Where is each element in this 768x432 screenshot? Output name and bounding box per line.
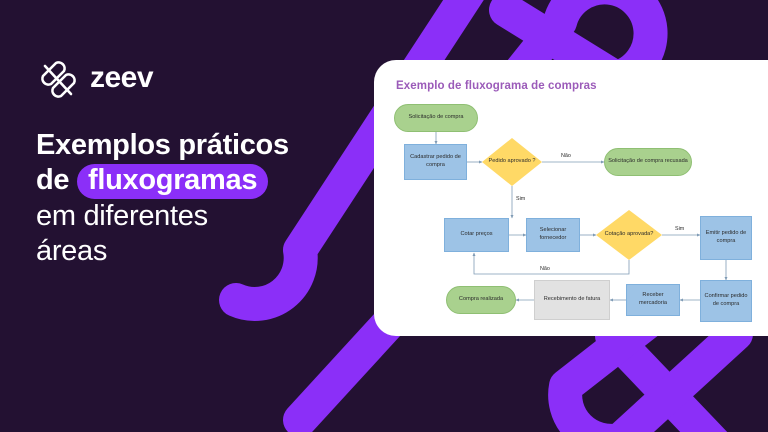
flow-node-compra-realizada: Compra realizada (446, 286, 516, 314)
flowchart-card: Exemplo de fluxograma de compras (374, 60, 768, 336)
flow-node-selecionar-fornecedor: Selecionar fornecedor (526, 218, 580, 252)
flow-node-emitir-pedido: Emitir pedido de compra (700, 216, 752, 260)
flow-node-cotacao-aprovada: Cotação aprovada? (596, 210, 662, 260)
edge-label-nao-bottom: Não (539, 266, 551, 272)
headline-line-2: de fluxogramas (36, 163, 366, 199)
edge-label-sim-right: Sim (674, 226, 685, 232)
flow-node-confirmar-pedido: Confirmar pedido de compra (700, 280, 752, 322)
edge-label-sim-down: Sim (515, 196, 526, 202)
slide-canvas: zeev Exemplos práticos de fluxogramas em… (0, 0, 768, 432)
left-content-column: zeev Exemplos práticos de fluxogramas em… (36, 56, 366, 269)
flow-node-cotar-precos: Cotar preços (444, 218, 509, 252)
headline-line-3: em diferentes (36, 199, 366, 234)
flow-node-receber-mercadoria: Receber mercadoria (626, 284, 680, 316)
flow-node-pedido-aprovado: Pedido aprovado ? (482, 138, 542, 186)
brand-logo: zeev (36, 56, 366, 102)
page-title: Exemplos práticos de fluxogramas em dife… (36, 128, 366, 269)
zeev-logo-mark (36, 58, 80, 100)
flowchart-diagram: Solicitação de compra Cadastrar pedido d… (374, 100, 768, 336)
flowchart-title: Exemplo de fluxograma de compras (396, 80, 597, 92)
headline-line-4: áreas (36, 234, 366, 269)
brand-name: zeev (90, 63, 153, 95)
edge-label-nao-top: Não (560, 153, 572, 159)
flow-node-solicitacao-compra: Solicitação de compra (394, 104, 478, 132)
flow-node-compra-recusada: Solicitação de compra recusada (604, 148, 692, 176)
headline-line-1: Exemplos práticos (36, 128, 366, 163)
flow-node-recebimento-fatura: Recebimento de fatura (534, 280, 610, 320)
headline-highlight-fluxogramas: fluxogramas (77, 164, 268, 199)
flow-node-cadastrar-pedido: Cadastrar pedido de compra (404, 144, 467, 180)
headline-line-2-prefix: de (36, 164, 69, 196)
